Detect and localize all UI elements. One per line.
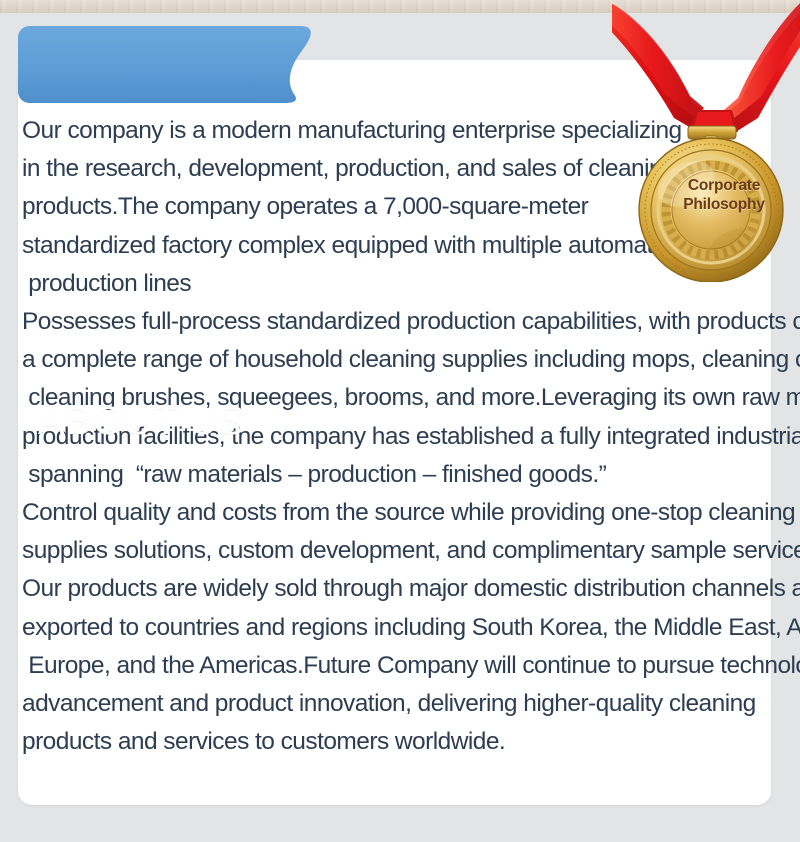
body-line: exported to countries and regions includ… [22,609,770,647]
body-line: Control quality and costs from the sourc… [22,494,770,532]
body-line: Our products are widely sold through maj… [22,570,770,608]
body-line: Europe, and the Americas.Future Company … [22,647,770,685]
body-line: spanning “raw materials – production – f… [22,456,770,494]
body-line: advancement and product innovation, deli… [22,685,770,723]
body-line: production lines [22,265,770,303]
body-line: Possesses full-process standardized prod… [22,303,770,341]
page-title: ABOUT US [38,401,246,441]
about-us-page: ABOUT US [0,0,800,842]
body-line: products and services to customers world… [22,723,770,761]
about-us-banner [18,26,338,103]
body-line: in the research, development, production… [22,150,770,188]
body-line: Our company is a modern manufacturing en… [22,112,770,150]
body-line: products.The company operates a 7,000-sq… [22,188,770,226]
wood-texture-strip [0,0,800,13]
body-line: a complete range of household cleaning s… [22,341,770,379]
body-line: standardized factory complex equipped wi… [22,227,770,265]
body-line: supplies solutions, custom development, … [22,532,770,570]
